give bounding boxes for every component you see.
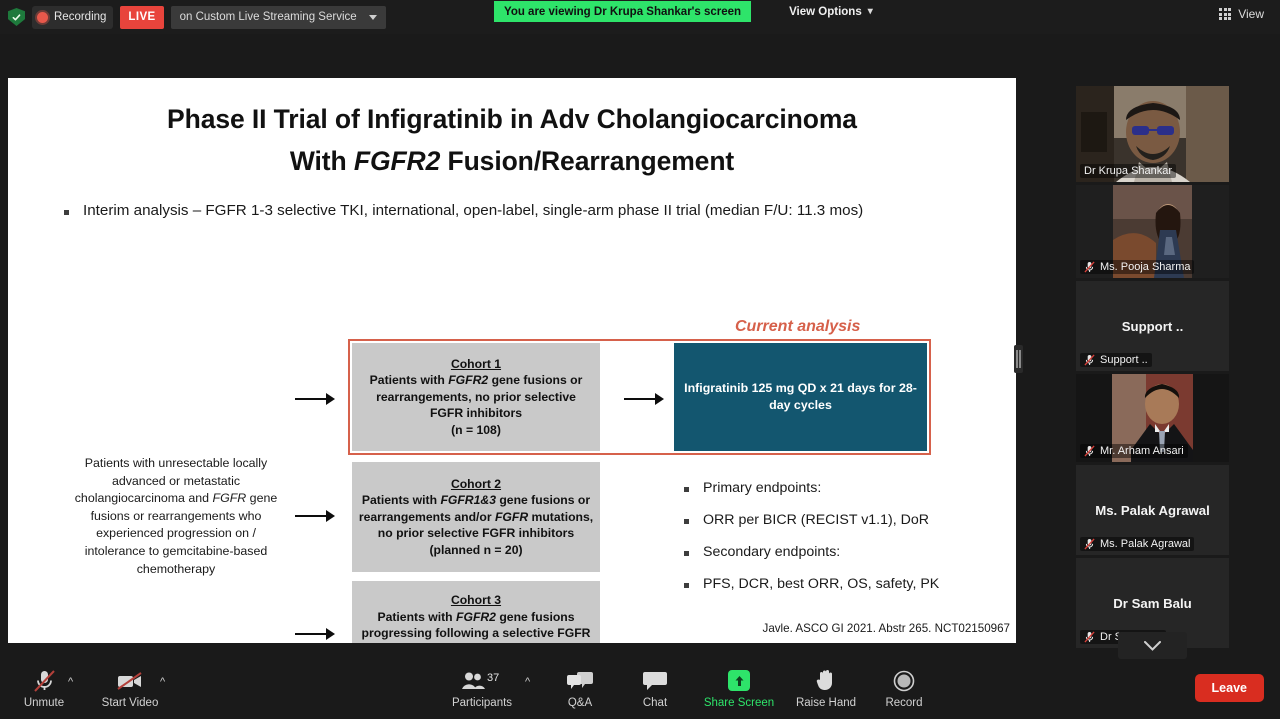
participant-name-label: Ms. Pooja Sharma [1080,260,1194,274]
cohort-2-box: Cohort 2 Patients with FGFR1&3 gene fusi… [352,462,600,572]
microphone-muted-icon [1084,538,1095,550]
participant-tile-mr-arham-ansari[interactable]: Mr. Arham Ansari [1076,374,1229,462]
start-video-button[interactable]: Start Video [92,668,168,714]
slide-bullet-text: Interim analysis – FGFR 1-3 selective TK… [83,202,863,219]
chevron-down-icon [1144,641,1161,651]
cohort-3-box: Cohort 3 Patients with FGFR2 gene fusion… [352,581,600,643]
view-options-button[interactable]: View Options ▾ [777,1,885,22]
recording-indicator[interactable]: Recording [32,6,113,29]
cohort-1-heading: Cohort 1 [451,357,501,371]
record-dot-icon [37,12,48,23]
microphone-muted-icon [1084,354,1095,366]
top-bar-left-group: Recording LIVE on Custom Live Streaming … [8,5,386,29]
participants-label: Participants [452,697,512,710]
bullet-square-icon [684,551,689,556]
view-label: View [1238,7,1264,21]
current-analysis-label: Current analysis [735,318,860,336]
grid-icon [1219,8,1231,20]
participant-name-label: Mr. Arham Ansari [1080,444,1188,458]
microphone-muted-icon [1084,261,1095,273]
chat-bubble-icon [643,668,667,693]
top-bar-center-group: You are viewing Dr Krupa Shankar's scree… [494,1,885,22]
arrow-to-cohort-1-icon [295,393,335,405]
shield-check-icon[interactable] [8,8,25,26]
qa-bubbles-icon [567,668,593,693]
bullet-square-icon [684,487,689,492]
participant-tile-dr-krupa-shankar[interactable]: Dr Krupa Shankar [1076,86,1229,182]
bullet-square-icon [684,583,689,588]
participants-video-strip: Dr Krupa Shankar [1076,86,1229,651]
cohort-2-body: Patients with FGFR1&3 gene fusions or re… [358,492,594,541]
arrow-to-cohort-3-icon [295,628,335,640]
participant-tile-ms-palak-agrawal[interactable]: Ms. Palak Agrawal Ms. Palak Agrawal [1076,465,1229,555]
cohort-3-body: Patients with FGFR2 gene fusions progres… [358,609,594,643]
slide-bullet-interim-analysis: Interim analysis – FGFR 1-3 selective TK… [64,202,994,219]
chevron-down-icon: ▾ [868,6,873,17]
endpoints-list: Primary endpoints: ORR per BICR (RECIST … [684,480,1014,608]
arrow-to-cohort-2-icon [295,510,335,522]
streaming-service-label: on Custom Live Streaming Service [180,11,357,23]
chat-button[interactable]: Chat [617,668,693,714]
qa-label: Q&A [568,697,592,710]
share-screen-button[interactable]: Share Screen [700,668,778,714]
microphone-muted-icon [1084,631,1095,643]
qa-button[interactable]: Q&A [542,668,618,714]
live-badge: LIVE [120,6,163,29]
participants-icon: 37 [461,668,503,693]
slide-title: Phase II Trial of Infigratinib in Adv Ch… [8,98,1016,182]
leave-button[interactable]: Leave [1195,674,1264,702]
chevron-down-icon [369,15,377,20]
share-screen-label: Share Screen [704,697,774,710]
slide-citation: Javle. ASCO GI 2021. Abstr 265. NCT02150… [763,622,1010,635]
share-screen-icon [728,668,750,693]
zoom-meeting-window: Recording LIVE on Custom Live Streaming … [0,0,1280,719]
slide-title-line-2: With FGFR2 Fusion/Rearrangement [8,140,1016,182]
raise-hand-label: Raise Hand [796,697,856,710]
camera-muted-icon [116,668,144,693]
cohort-1-n: (n = 108) [358,422,594,438]
cohort-2-n: (planned n = 20) [358,542,594,558]
raise-hand-button[interactable]: Raise Hand [788,668,864,714]
participants-button[interactable]: 37 Participants [444,668,520,714]
participants-options-caret-icon[interactable]: ^ [525,676,530,688]
participant-name-label: Support .. [1080,353,1152,367]
treatment-box: Infigratinib 125 mg QD x 21 days for 28-… [674,343,927,451]
endpoint-item: PFS, DCR, best ORR, OS, safety, PK [684,576,1014,592]
cohort-3-heading: Cohort 3 [451,593,501,607]
participant-name-label: Ms. Palak Agrawal [1080,537,1194,551]
microphone-muted-icon [34,668,55,693]
bullet-square-icon [64,210,69,215]
cohort-1-box: Cohort 1 Patients with FGFR2 gene fusion… [352,343,600,451]
video-options-caret-icon[interactable]: ^ [160,676,165,688]
view-layout-button[interactable]: View [1219,7,1264,21]
microphone-muted-icon [1084,445,1095,457]
participant-tile-ms-pooja-sharma[interactable]: Ms. Pooja Sharma [1076,185,1229,278]
slide-title-line-1: Phase II Trial of Infigratinib in Adv Ch… [8,98,1016,140]
bullet-square-icon [684,519,689,524]
endpoint-item: ORR per BICR (RECIST v1.1), DoR [684,512,1014,528]
record-label: Record [885,697,922,710]
meeting-controls-bar: Unmute ^ Start Video ^ 37 [0,660,1280,719]
panel-resize-handle[interactable] [1014,345,1023,373]
raise-hand-icon [816,668,836,693]
viewing-screen-notice: You are viewing Dr Krupa Shankar's scree… [494,1,751,22]
audio-options-caret-icon[interactable]: ^ [68,676,73,688]
unmute-label: Unmute [24,697,64,710]
svg-text:37: 37 [487,672,499,684]
endpoint-item: Primary endpoints: [684,480,1014,496]
record-button[interactable]: Record [866,668,942,714]
live-streaming-service-dropdown[interactable]: on Custom Live Streaming Service [171,6,386,29]
chat-label: Chat [643,697,667,710]
arrow-cohort1-to-treatment-icon [624,393,664,405]
participant-tile-support[interactable]: Support .. Support .. [1076,281,1229,371]
view-options-label: View Options [789,6,862,18]
scroll-participants-down-button[interactable] [1118,632,1187,659]
meeting-top-bar: Recording LIVE on Custom Live Streaming … [0,0,1280,34]
start-video-label: Start Video [102,697,159,710]
record-circle-icon [893,668,915,693]
endpoint-item: Secondary endpoints: [684,544,1014,560]
cohort-2-heading: Cohort 2 [451,477,501,491]
patient-population-text: Patients with unresectable locally advan… [70,455,282,578]
unmute-button[interactable]: Unmute [6,668,82,714]
participant-name-label: Dr Krupa Shankar [1080,164,1176,178]
recording-label: Recording [54,11,106,23]
shared-screen-slide[interactable]: Phase II Trial of Infigratinib in Adv Ch… [8,78,1016,643]
cohort-1-body: Patients with FGFR2 gene fusions or rear… [358,372,594,421]
